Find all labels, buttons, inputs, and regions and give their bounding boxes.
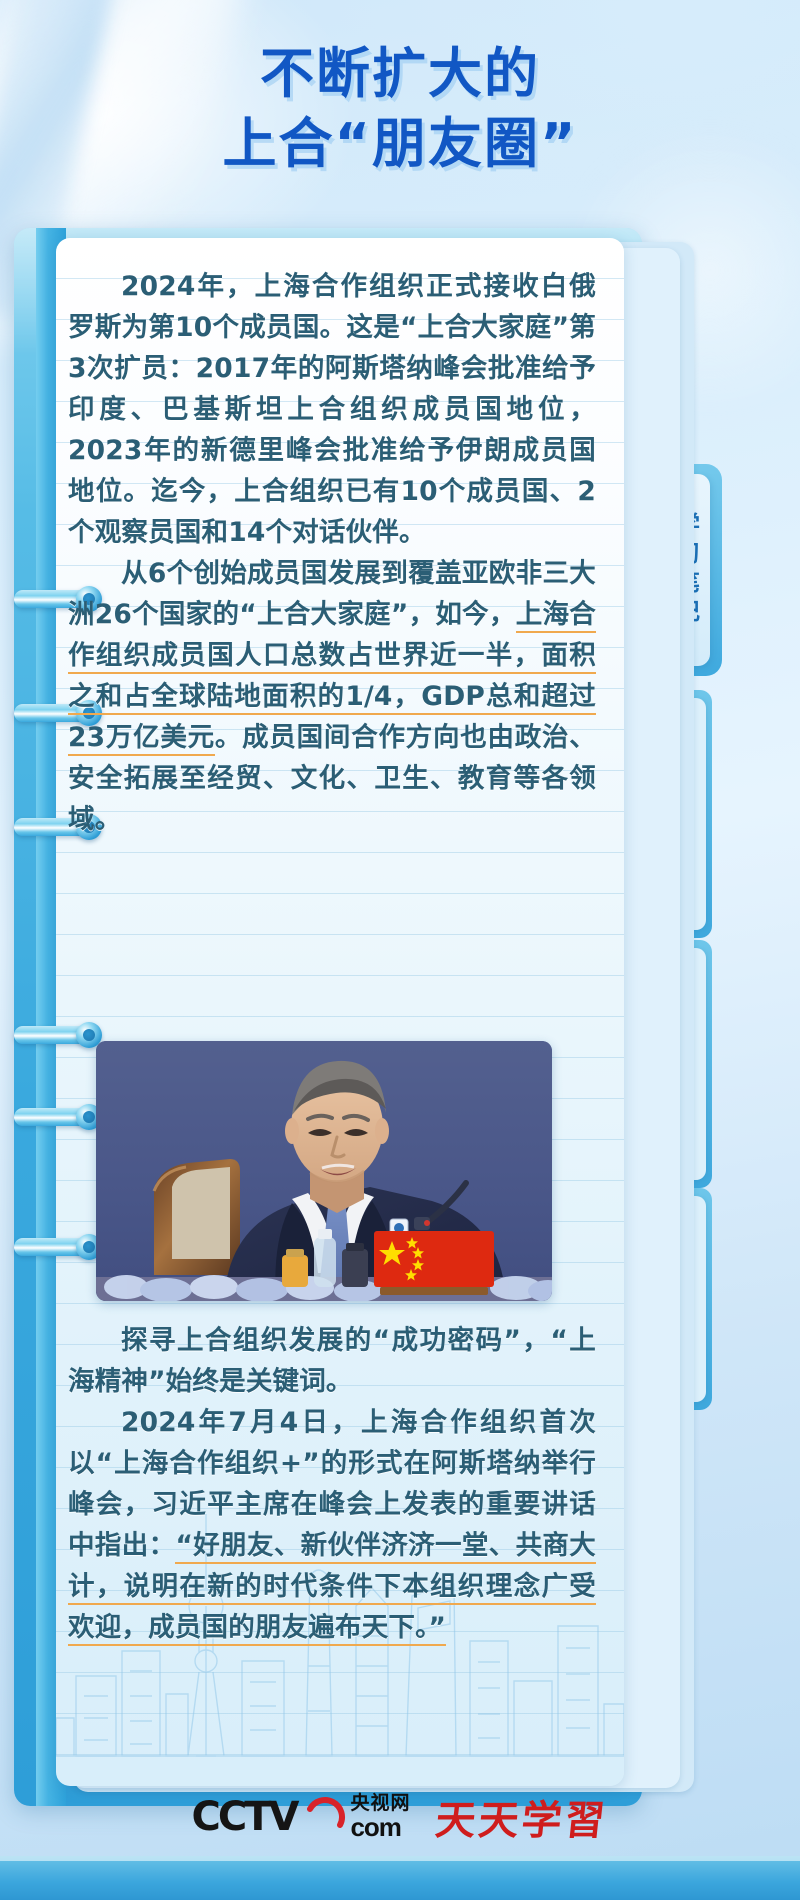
paragraph-2: 从6个创始成员国发展到覆盖亚欧非三大洲26个国家的“上合大家庭”，如今，上海合作… — [68, 553, 596, 840]
binder-ring-4 — [14, 1022, 102, 1048]
bottom-strip — [0, 1856, 800, 1900]
cctv-cn-label: 央视网 — [350, 1794, 410, 1813]
paragraph-4: 2024年7月4日，上海合作组织首次以“上海合作组织+”的形式在阿斯塔纳举行峰会… — [68, 1402, 596, 1648]
poster-page: 不断扩大的 上合“朋友圈” 学习笔记 — [0, 0, 800, 1900]
article-top: 2024年，上海合作组织正式接收白俄罗斯为第10个成员国。这是“上合大家庭”第3… — [68, 266, 596, 840]
cctv-logo: CCTV 央视网 com — [192, 1794, 411, 1840]
page-title: 不断扩大的 上合“朋友圈” — [0, 42, 800, 175]
footer-logos: CCTV 央视网 com 天天学習 — [0, 1778, 800, 1856]
cctv-arc-icon — [300, 1795, 346, 1839]
article-bottom: 探寻上合组织发展的“成功密码”，“上海精神”始终是关键词。 2024年7月4日，… — [68, 1320, 596, 1648]
cctv-com-label: com — [350, 1814, 410, 1840]
binder-ring-5 — [14, 1104, 102, 1130]
brand-logo: 天天学習 — [433, 1788, 611, 1846]
paragraph-1: 2024年，上海合作组织正式接收白俄罗斯为第10个成员国。这是“上合大家庭”第3… — [68, 266, 596, 553]
photo-illustration — [96, 1041, 552, 1301]
paragraph-3: 探寻上合组织发展的“成功密码”，“上海精神”始终是关键词。 — [68, 1320, 596, 1402]
title-line-1: 不断扩大的 — [0, 42, 800, 106]
title-line-2: 上合“朋友圈” — [0, 112, 800, 176]
binder-ring-6 — [14, 1234, 102, 1260]
cctv-wordmark: CCTV — [192, 1797, 297, 1837]
article-photo — [96, 1041, 552, 1301]
cctv-subtext: 央视网 com — [350, 1794, 410, 1840]
